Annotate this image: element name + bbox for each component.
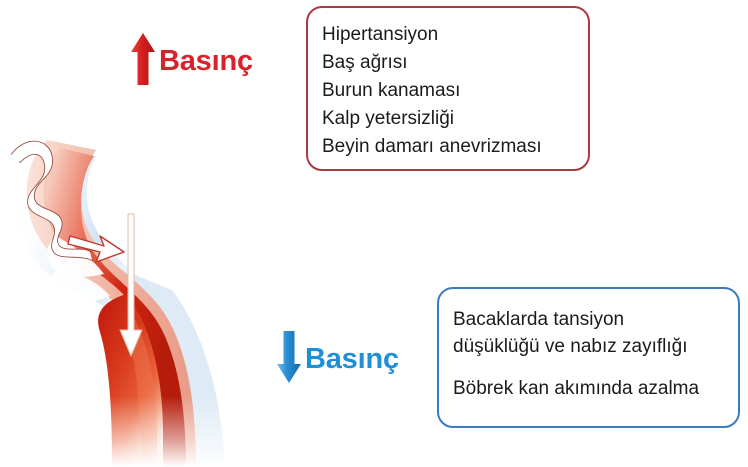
pressure-decrease-indicator: Basınç	[276, 330, 399, 389]
upper-body-symptoms-box: Hipertansiyon Baş ağrısı Burun kanaması …	[306, 6, 590, 171]
lower-body-symptoms-box: Bacaklarda tansiyon düşüklüğü ve nabız z…	[437, 287, 740, 428]
figure-canvas: Basınç Basınç Hipertansiyon Baş ağrısı B…	[0, 0, 748, 467]
symptom-item: Burun kanaması	[322, 77, 588, 105]
symptom-item: Kalp yetersizliği	[322, 105, 588, 133]
pressure-increase-indicator: Basınç	[130, 32, 253, 91]
pressure-decrease-label: Basınç	[305, 345, 399, 374]
arrow-down-icon	[276, 330, 302, 389]
symptom-group: Böbrek kan akımında azalma	[453, 375, 738, 402]
symptom-item: düşüklüğü ve nabız zayıflığı	[453, 333, 738, 360]
pressure-increase-label: Basınç	[159, 47, 253, 76]
symptom-item: Hipertansiyon	[322, 21, 588, 49]
symptom-item: Baş ağrısı	[322, 49, 588, 77]
symptom-item: Beyin damarı anevrizması	[322, 133, 588, 161]
symptom-group: Bacaklarda tansiyon düşüklüğü ve nabız z…	[453, 306, 738, 360]
arrow-up-icon	[130, 32, 156, 91]
aorta-coarctation-illustration	[0, 118, 250, 467]
symptom-item: Böbrek kan akımında azalma	[453, 375, 738, 402]
symptom-item: Bacaklarda tansiyon	[453, 306, 738, 333]
